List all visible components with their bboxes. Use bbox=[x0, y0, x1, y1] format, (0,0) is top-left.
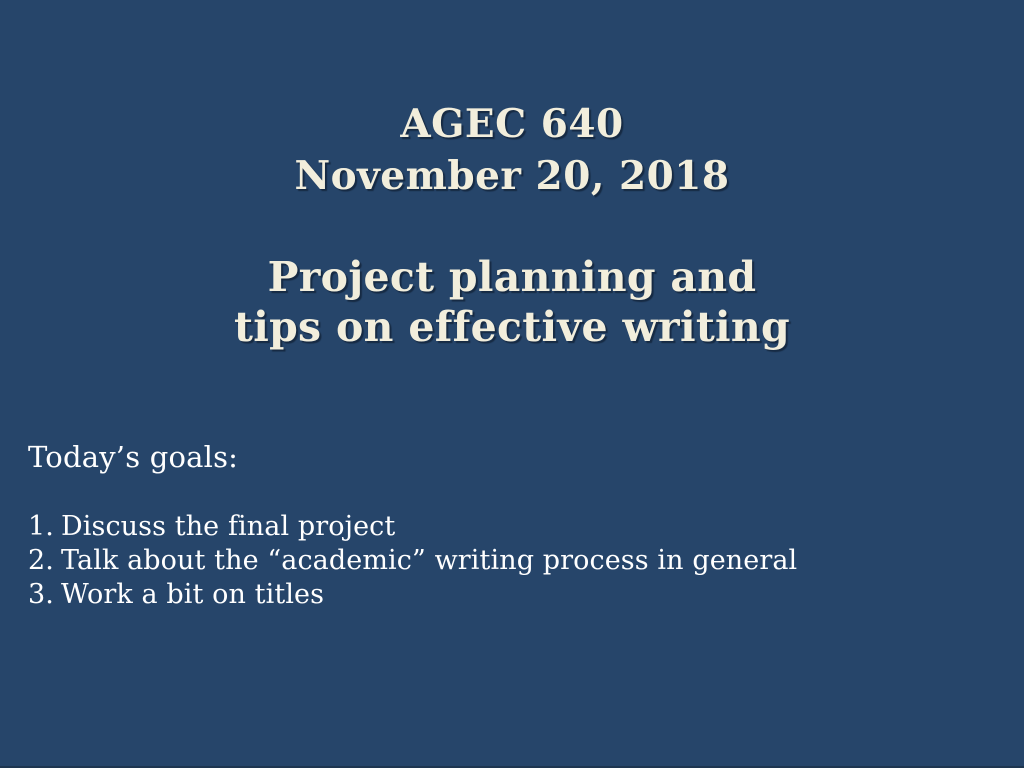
slide-title-course: AGEC 640 bbox=[0, 98, 1024, 150]
list-item: 3. Work a bit on titles bbox=[28, 578, 984, 612]
goal-number: 2. bbox=[28, 544, 61, 578]
goals-heading: Today’s goals: bbox=[28, 438, 984, 476]
goal-text: Work a bit on titles bbox=[61, 578, 324, 612]
goals-list: 1. Discuss the final project 2. Talk abo… bbox=[28, 510, 984, 612]
slide-body-block: Today’s goals: 1. Discuss the final proj… bbox=[28, 438, 984, 612]
goal-text: Discuss the final project bbox=[61, 510, 395, 544]
goal-number: 3. bbox=[28, 578, 61, 612]
slide-subtitle-line-1: Project planning and bbox=[0, 252, 1024, 302]
list-item: 1. Discuss the final project bbox=[28, 510, 984, 544]
slide-subtitle-line-2: tips on effective writing bbox=[0, 302, 1024, 352]
slide-title-date: November 20, 2018 bbox=[0, 150, 1024, 202]
goal-text: Talk about the “academic” writing proces… bbox=[61, 544, 797, 578]
goal-number: 1. bbox=[28, 510, 61, 544]
slide-subtitle-block: Project planning and tips on effective w… bbox=[0, 252, 1024, 352]
slide-title-block: AGEC 640 November 20, 2018 bbox=[0, 98, 1024, 202]
list-item: 2. Talk about the “academic” writing pro… bbox=[28, 544, 984, 578]
presentation-slide: AGEC 640 November 20, 2018 Project plann… bbox=[0, 0, 1024, 768]
